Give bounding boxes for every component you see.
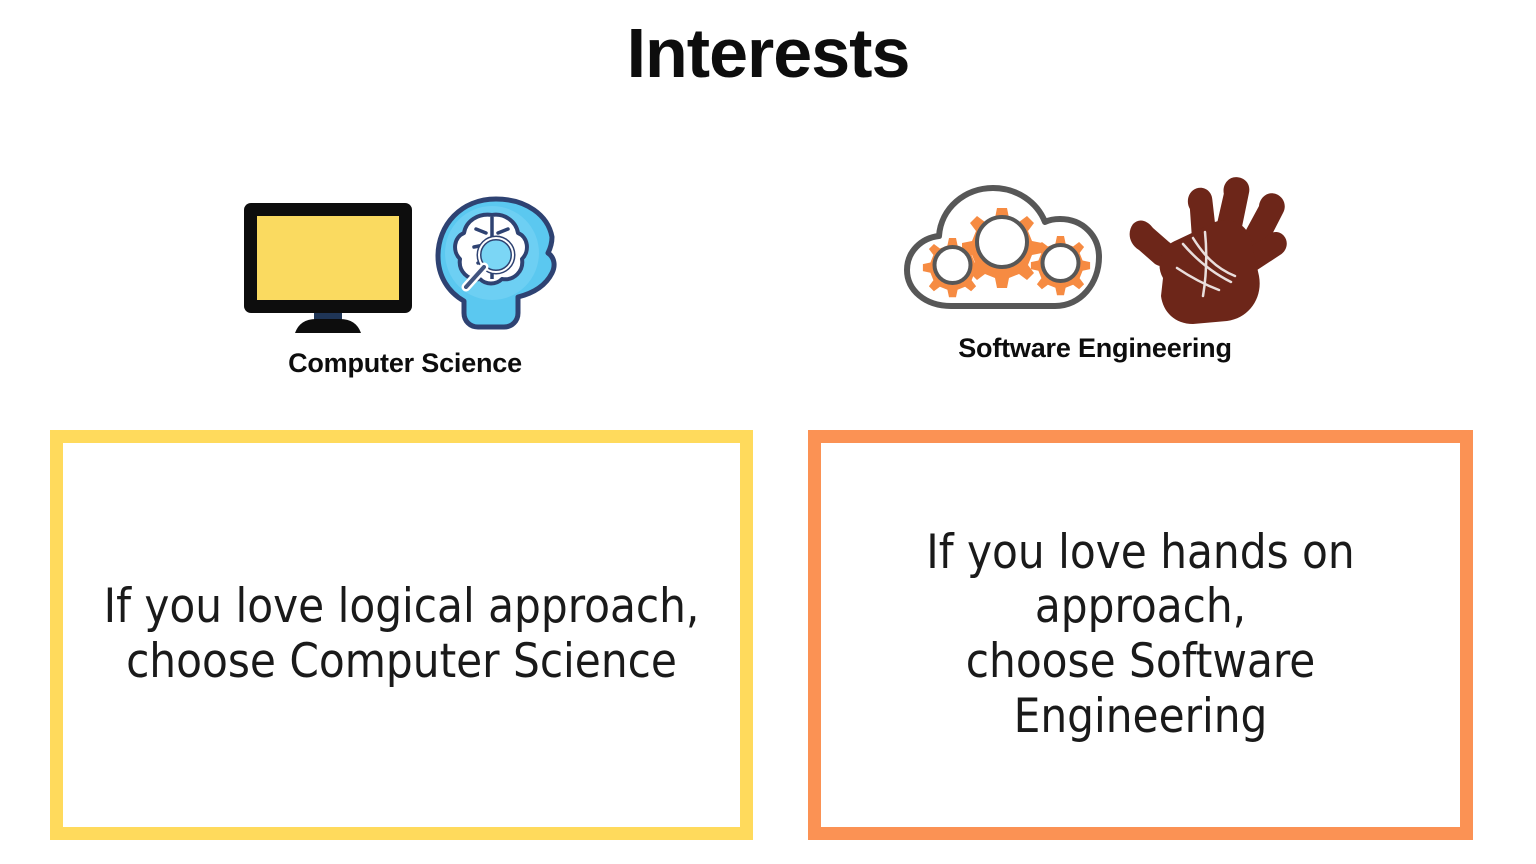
icon-caption-computer-science: Computer Science: [205, 348, 605, 379]
icon-caption-software-engineering: Software Engineering: [880, 333, 1310, 364]
handprint-icon: [1119, 172, 1294, 329]
column-software-engineering: Software Engineering: [880, 175, 1310, 364]
monitor-icon: [240, 199, 416, 340]
brain-head-icon: [430, 193, 570, 340]
icon-group-software-engineering: [880, 175, 1310, 325]
page-title: Interests: [0, 18, 1536, 88]
column-computer-science: Computer Science: [205, 190, 605, 379]
callout-text-computer-science: If you love logical approach, choose Com…: [76, 580, 728, 689]
callout-text-software-engineering: If you love hands on approach, choose So…: [821, 526, 1460, 744]
icon-group-computer-science: [205, 190, 605, 340]
callout-box-software-engineering: If you love hands on approach, choose So…: [808, 430, 1473, 840]
cloud-gears-icon: [897, 178, 1109, 323]
callout-box-computer-science: If you love logical approach, choose Com…: [50, 430, 753, 840]
